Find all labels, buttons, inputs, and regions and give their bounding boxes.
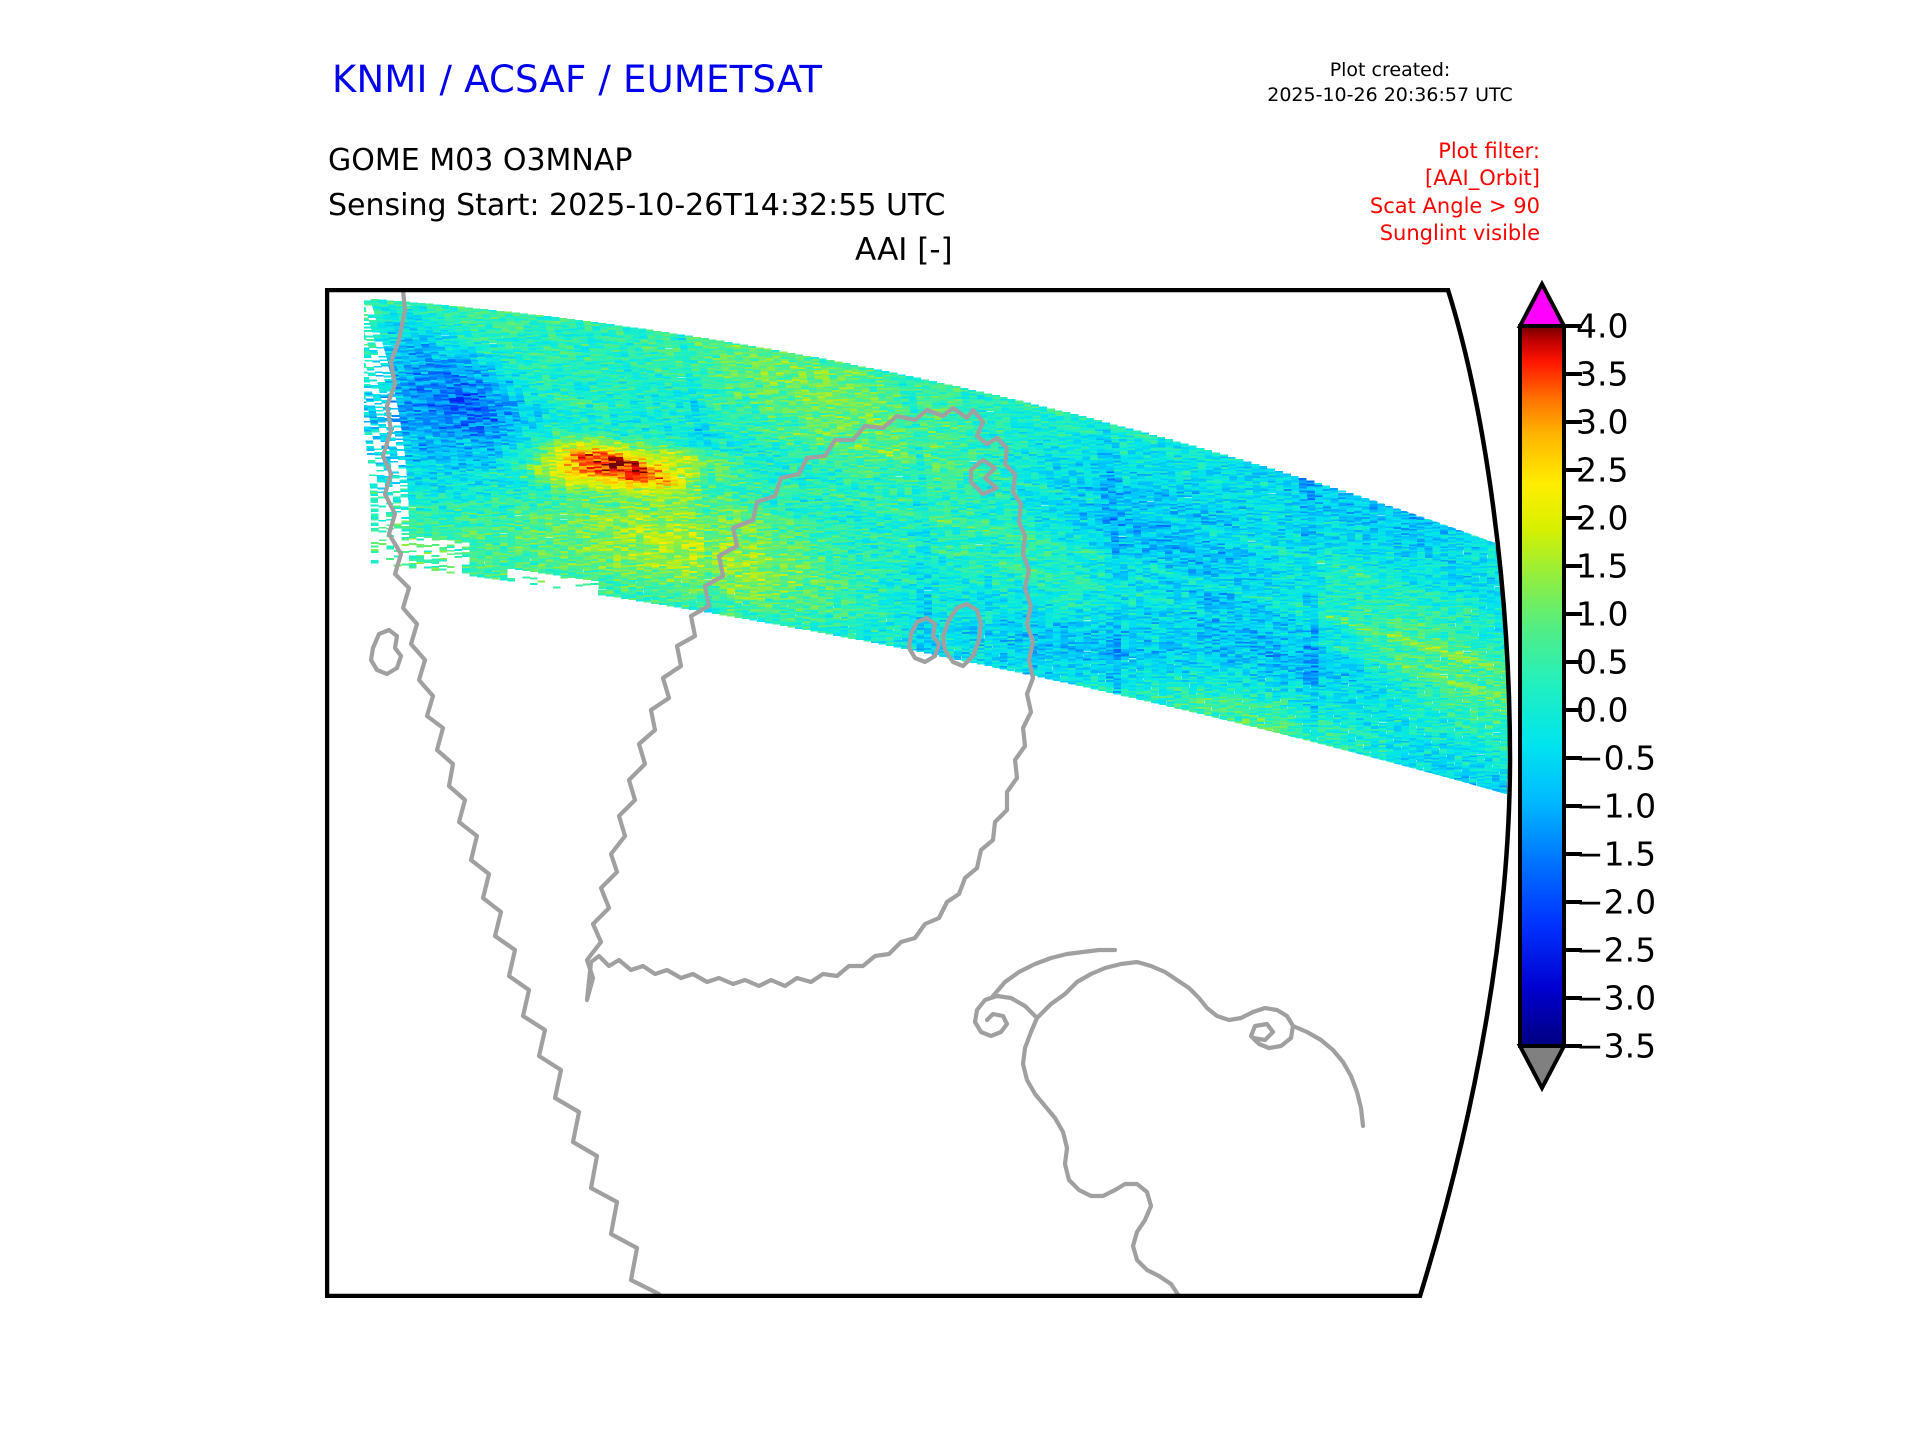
colorbar-tick-label: −1.0	[1576, 787, 1656, 826]
colorbar-tick-label: 3.5	[1576, 355, 1628, 394]
colorbar-tick-label: 4.0	[1576, 307, 1628, 346]
colorbar-tick-label: 1.5	[1576, 547, 1628, 586]
plot-filter-sunglint: Sunglint visible	[1250, 220, 1540, 247]
instrument-title: GOME M03 O3MNAP	[328, 143, 632, 178]
colorbar-canvas	[1512, 276, 1912, 1316]
map-plot-area	[325, 288, 1515, 1298]
map-canvas	[325, 288, 1515, 1298]
colorbar-tick-label: 0.5	[1576, 643, 1628, 682]
colorbar-tick-label: 3.0	[1576, 403, 1628, 442]
colorbar-tick-label: 2.5	[1576, 451, 1628, 490]
agency-brand-label: KNMI / ACSAF / EUMETSAT	[332, 58, 822, 101]
colorbar-tick-label: −0.5	[1576, 739, 1656, 778]
plot-created-timestamp: 2025-10-26 20:36:57 UTC	[1240, 83, 1540, 108]
colorbar-gradient-bar	[1520, 326, 1564, 1046]
colorbar-tick-label: −3.0	[1576, 979, 1656, 1018]
colorbar-under-arrow	[1520, 1046, 1564, 1088]
plot-filter-scat-angle: Scat Angle > 90	[1250, 193, 1540, 220]
colorbar-over-arrow	[1520, 284, 1564, 326]
colorbar-tick-label: 0.0	[1576, 691, 1628, 730]
plot-created-label: Plot created:	[1240, 58, 1540, 83]
plot-page: KNMI / ACSAF / EUMETSAT Plot created: 20…	[0, 0, 1920, 1440]
plot-filter-block: Plot filter: [AAI_Orbit] Scat Angle > 90…	[1250, 138, 1540, 247]
colorbar-tick-label: −2.5	[1576, 931, 1656, 970]
globe-interior	[325, 288, 1515, 1298]
colorbar-tick-label: −2.0	[1576, 883, 1656, 922]
sensing-start-label: Sensing Start: 2025-10-26T14:32:55 UTC	[328, 188, 945, 223]
colorbar-tick-label: 1.0	[1576, 595, 1628, 634]
plot-created-block: Plot created: 2025-10-26 20:36:57 UTC	[1240, 58, 1540, 108]
colorbar-tick-label: 2.0	[1576, 499, 1628, 538]
colorbar-tick-label: −3.5	[1576, 1027, 1656, 1066]
colorbar-tick-label: −1.5	[1576, 835, 1656, 874]
variable-title: AAI [-]	[855, 232, 953, 268]
colorbar: 4.03.53.02.52.01.51.00.50.0−0.5−1.0−1.5−…	[1512, 276, 1912, 1316]
plot-filter-product: [AAI_Orbit]	[1250, 165, 1540, 192]
plot-filter-heading: Plot filter:	[1250, 138, 1540, 165]
